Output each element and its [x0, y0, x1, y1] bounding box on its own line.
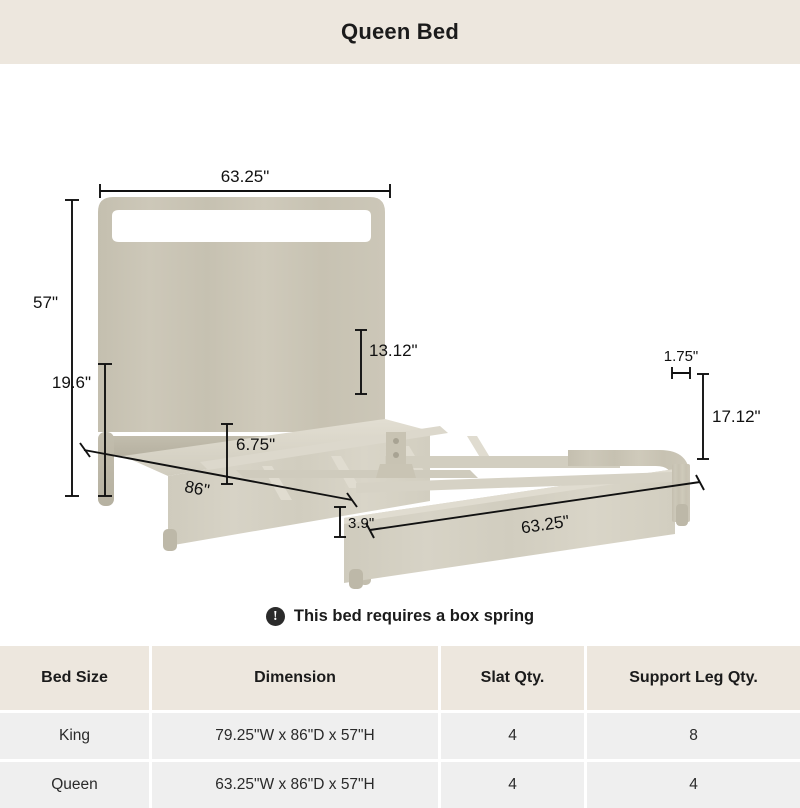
exclamation-circle-icon: !: [266, 607, 285, 626]
post-bolt-lower: [393, 452, 399, 458]
table-header-row: Bed Size Dimension Slat Qty. Support Leg…: [0, 646, 800, 713]
cell-support-leg-qty: 4: [587, 762, 800, 808]
dim-footboard-height-label: 17.12": [712, 407, 761, 426]
column-header-bed-size: Bed Size: [0, 646, 152, 713]
dim-headboard-width-label: 63.25": [221, 167, 270, 186]
post-bolt-upper: [393, 438, 399, 444]
dim-side-rail-height-label: 6.75": [236, 435, 275, 454]
dim-overall-height-label: 57": [33, 293, 58, 312]
cell-dimension: 79.25"W x 86"D x 57"H: [152, 713, 441, 762]
table-row: King 79.25"W x 86"D x 57"H 4 8: [0, 713, 800, 762]
side-rail-near-leg: [163, 529, 177, 551]
column-header-support-leg-qty: Support Leg Qty.: [587, 646, 800, 713]
cell-bed-size: King: [0, 713, 152, 762]
dim-headboard-leg-height-label: 19.6": [52, 373, 91, 392]
center-support-foot: [376, 464, 416, 478]
page-title: Queen Bed: [341, 19, 459, 45]
dim-footboard-post-width: 1.75": [664, 348, 699, 379]
title-banner: Queen Bed: [0, 0, 800, 64]
dim-footboard-height: 17.12": [697, 374, 761, 459]
headboard-left-leg: [98, 432, 114, 506]
column-header-slat-qty: Slat Qty.: [441, 646, 587, 713]
cell-support-leg-qty: 8: [587, 713, 800, 762]
box-spring-notice-text: This bed requires a box spring: [294, 607, 534, 626]
column-header-dimension: Dimension: [152, 646, 441, 713]
dim-center-post-height-label: 13.12": [369, 341, 418, 360]
dim-footboard-post-width-label: 1.75": [664, 348, 699, 365]
bed-illustration: [98, 197, 690, 589]
cell-slat-qty: 4: [441, 762, 587, 808]
cell-bed-size: Queen: [0, 762, 152, 808]
dim-headboard-width: 63.25": [100, 167, 390, 198]
center-support-post: [386, 432, 406, 466]
center-beam-near: [236, 470, 478, 478]
headboard-slot-cutout: [112, 210, 371, 242]
box-spring-notice: ! This bed requires a box spring: [0, 592, 800, 640]
footboard-right-leg: [676, 504, 688, 526]
bed-dimension-diagram: 63.25" 57" 19.6" 13.12" 6.75: [0, 64, 800, 589]
footboard-left-leg: [349, 569, 363, 589]
dim-overall-height: 57": [33, 200, 79, 496]
cell-slat-qty: 4: [441, 713, 587, 762]
cell-dimension: 63.25"W x 86"D x 57"H: [152, 762, 441, 808]
table-row: Queen 63.25"W x 86"D x 57"H 4 4: [0, 762, 800, 808]
specification-table: Bed Size Dimension Slat Qty. Support Leg…: [0, 646, 800, 808]
